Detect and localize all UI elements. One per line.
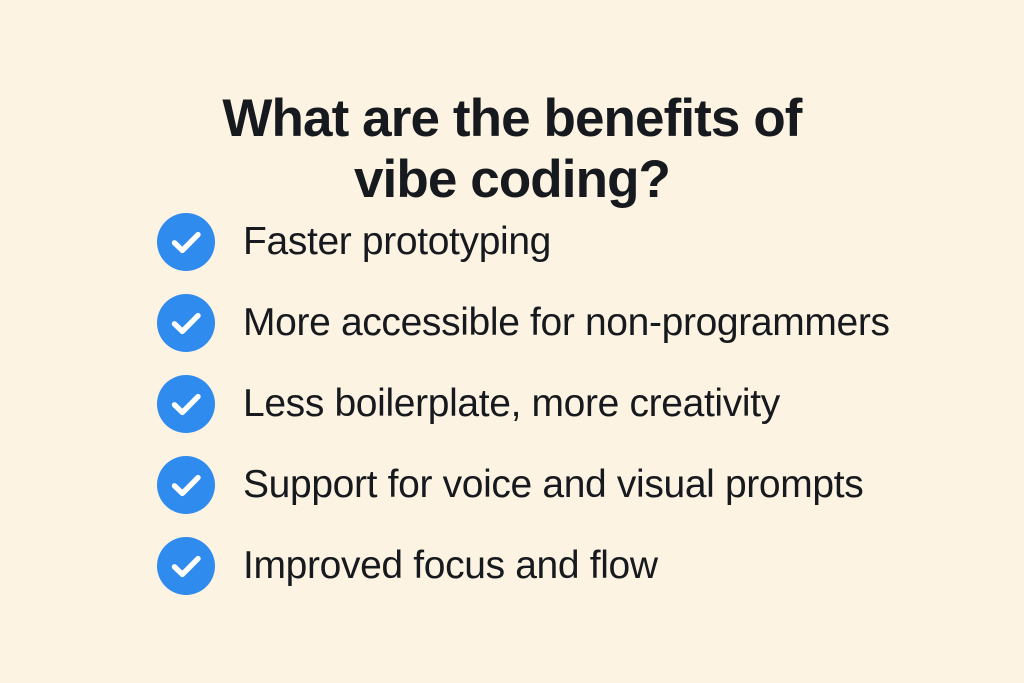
list-item: Improved focus and flow [157, 534, 987, 598]
list-item-label: More accessible for non-programmers [243, 300, 890, 346]
check-circle-icon [157, 537, 215, 595]
check-circle-icon [157, 294, 215, 352]
check-circle-icon [157, 213, 215, 271]
list-item-label: Faster prototyping [243, 219, 551, 265]
list-item-label: Support for voice and visual prompts [243, 462, 863, 508]
list-item-label: Less boilerplate, more creativity [243, 381, 780, 427]
list-item: Less boilerplate, more creativity [157, 372, 987, 436]
check-circle-icon [157, 456, 215, 514]
benefits-list: Faster prototyping More accessible for n… [157, 210, 987, 598]
list-item: Support for voice and visual prompts [157, 453, 987, 517]
list-item: Faster prototyping [157, 210, 987, 274]
list-item-label: Improved focus and flow [243, 543, 658, 589]
benefits-slide: What are the benefits of vibe coding? Fa… [0, 0, 1024, 683]
list-item: More accessible for non-programmers [157, 291, 987, 355]
check-circle-icon [157, 375, 215, 433]
page-title: What are the benefits of vibe coding? [0, 88, 1024, 210]
